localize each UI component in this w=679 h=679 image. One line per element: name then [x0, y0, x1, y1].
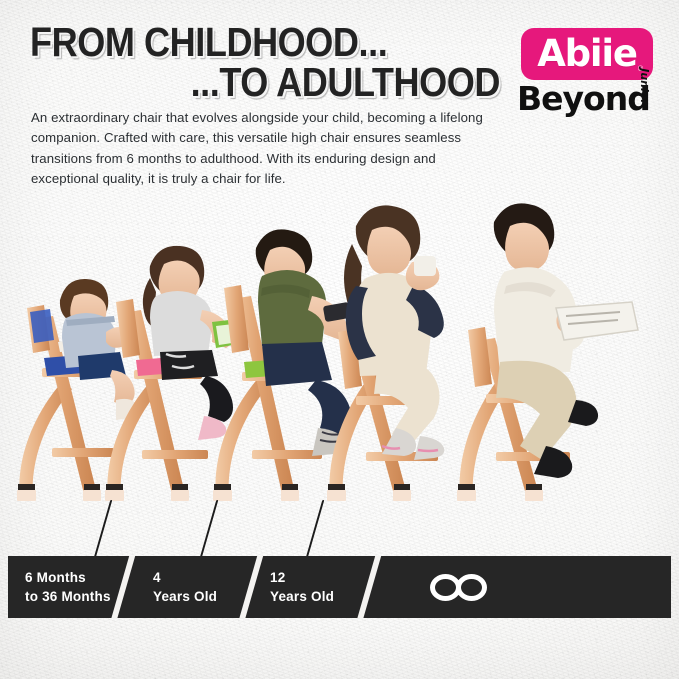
body-copy: An extraordinary chair that evolves alon… — [31, 108, 501, 190]
figure-adult-woman — [344, 205, 444, 460]
brand-wordmark: Abiie — [537, 35, 637, 72]
age-cell-1-line-1: 4 — [153, 568, 217, 587]
scene-illustration — [0, 200, 679, 510]
age-cell-0-line-2: to 36 Months — [25, 587, 111, 606]
lifestyle-scene — [0, 200, 679, 510]
age-cell-2: 12 Years Old — [270, 556, 334, 618]
age-divider-1 — [107, 556, 139, 618]
age-cell-0-line-1: 6 Months — [25, 568, 111, 587]
headline: FROM CHILDHOOD... ...TO ADULTHOOD — [30, 24, 500, 101]
brand-badge: Abiie ® — [521, 28, 653, 80]
age-cell-2-line-1: 12 — [270, 568, 334, 587]
product-banner: FROM CHILDHOOD... ...TO ADULTHOOD An ext… — [0, 0, 679, 679]
age-range-bar: 6 Months to 36 Months 4 Years Old 12 Yea… — [8, 556, 671, 618]
headline-line-1: FROM CHILDHOOD... — [30, 24, 444, 62]
product-line-label: Beyond — [517, 82, 650, 115]
product-suffix-label: Junior — [638, 68, 651, 105]
age-cell-2-line-2: Years Old — [270, 587, 334, 606]
infinity-label: ∞ — [430, 574, 431, 575]
brand-logo: Abiie ® Beyond Junior — [509, 28, 669, 136]
body-paragraph: An extraordinary chair that evolves alon… — [31, 108, 501, 190]
age-cell-1: 4 Years Old — [153, 556, 217, 618]
age-cell-1-line-2: Years Old — [153, 587, 217, 606]
infinity-icon: ∞ — [430, 574, 498, 601]
age-cell-0: 6 Months to 36 Months — [25, 556, 111, 618]
age-divider-2 — [235, 556, 267, 618]
age-divider-3 — [353, 556, 385, 618]
infinity-ring-right — [456, 574, 487, 601]
headline-line-2: ...TO ADULTHOOD — [86, 64, 500, 102]
